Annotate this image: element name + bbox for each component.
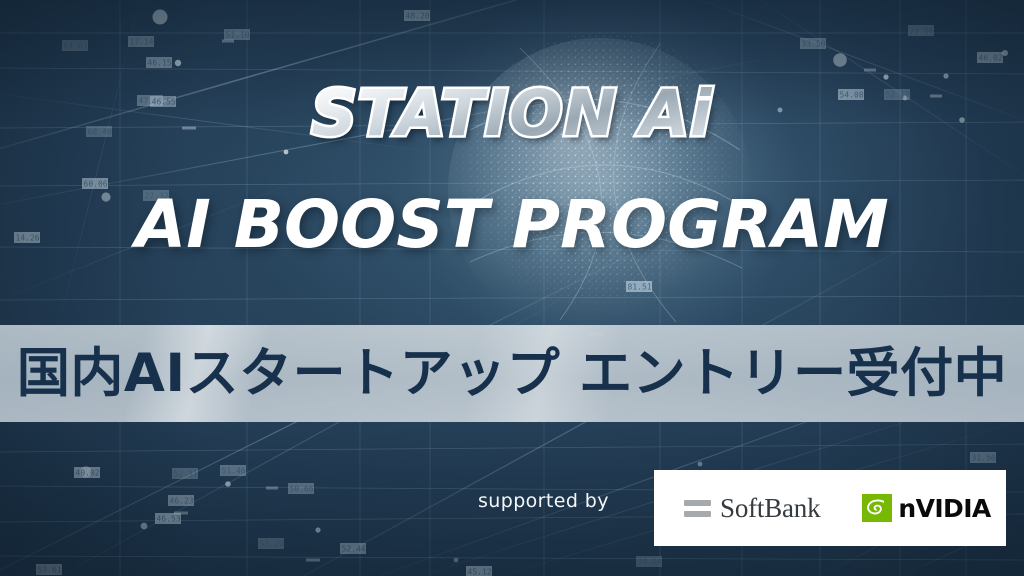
program-title: AI BOOST PROGRAM (0, 192, 1024, 258)
supported-by-label: supported by (478, 492, 609, 511)
nvidia-eye-icon (862, 494, 892, 522)
softbank-wordmark: SoftBank (720, 495, 820, 522)
brand-wordmark-fill: STATION Ai (311, 77, 712, 150)
nvidia-wordmark: nVIDIA (898, 496, 990, 521)
brand-wordmark: STATION Ai STATION Ai (0, 82, 1024, 145)
banner-text: 国内AIスタートアップ エントリー受付中 (17, 347, 1007, 400)
softbank-bars-icon (684, 500, 711, 517)
sponsor-logo-panel: SoftBank nVIDIA (654, 470, 1006, 546)
nvidia-wordmark-lower: n (898, 494, 915, 523)
entry-banner: 国内AIスタートアップ エントリー受付中 (0, 325, 1024, 422)
poster-canvas: 64.6117.1446.1514.2668.4047.1446.5560.06… (0, 0, 1024, 576)
nvidia-wordmark-upper: VIDIA (916, 494, 991, 523)
nvidia-logo: nVIDIA (862, 494, 990, 522)
softbank-logo: SoftBank (684, 495, 820, 522)
